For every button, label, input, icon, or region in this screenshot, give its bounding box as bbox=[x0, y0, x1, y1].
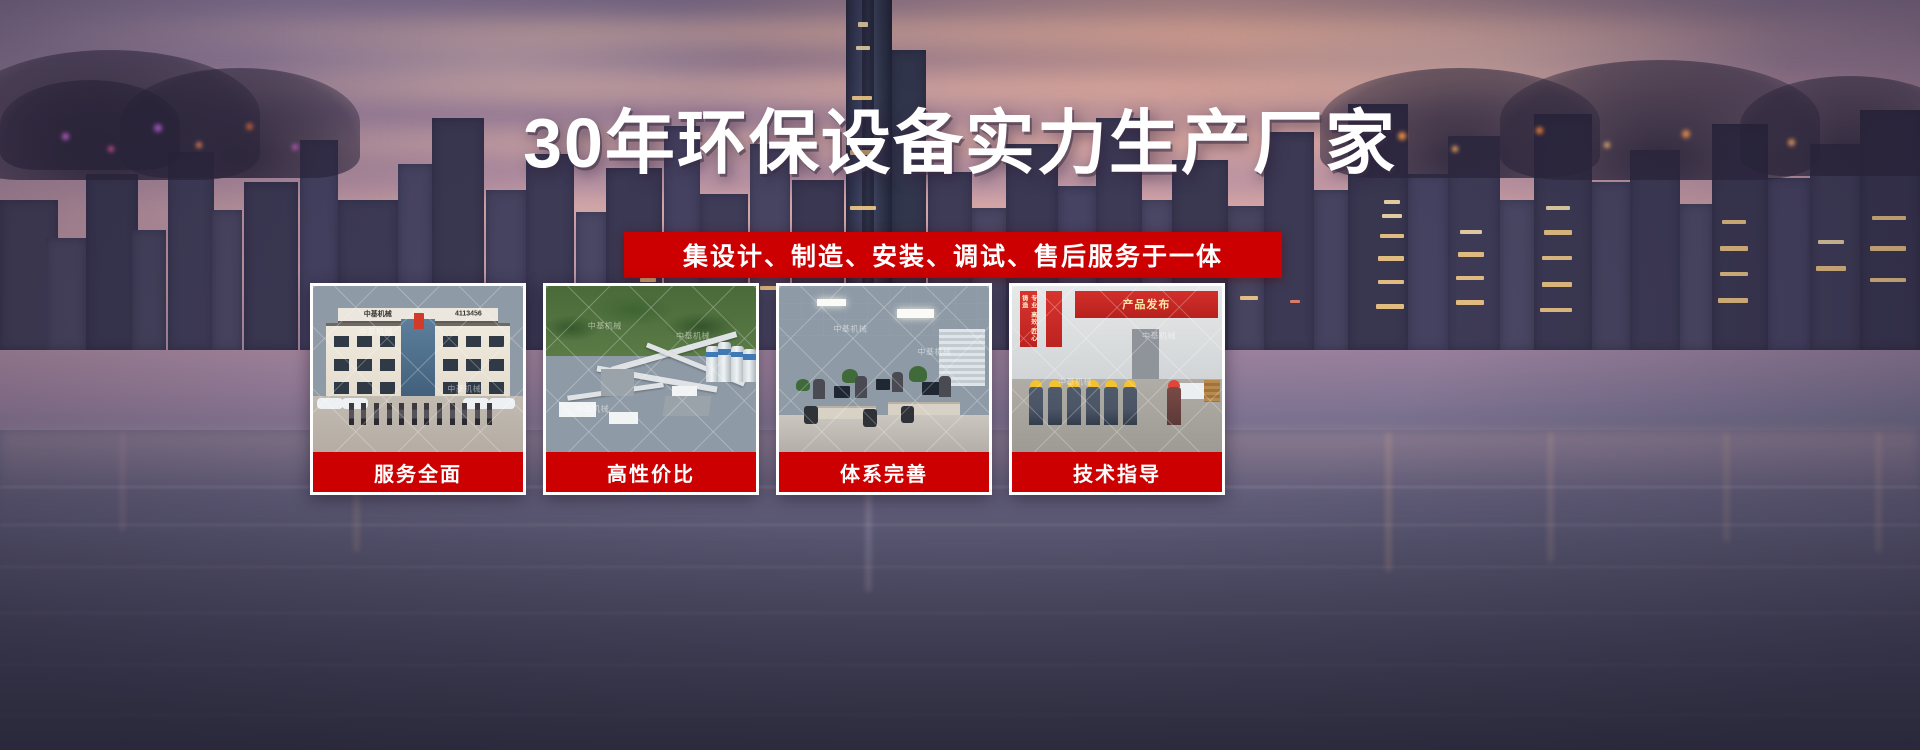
photo-watermark-mesh bbox=[313, 286, 523, 452]
feature-card-caption: 体系完善 bbox=[840, 458, 928, 487]
photo-watermark-text: 中基机械 bbox=[359, 327, 393, 338]
feature-card-caption-bar: 高性价比 bbox=[546, 452, 756, 492]
feature-card-caption: 高性价比 bbox=[607, 458, 695, 487]
photo-watermark-text: 中基机械 bbox=[575, 403, 609, 414]
feature-card[interactable]: 专业 高效 匠心铸造 产品发布 bbox=[1009, 283, 1225, 495]
photo-watermark-text: 中基机械 bbox=[833, 324, 867, 335]
office-workspace-photo: 中基机械 中基机械 bbox=[779, 286, 989, 452]
photo-watermark-mesh bbox=[546, 286, 756, 452]
photo-watermark-text: 中基机械 bbox=[917, 347, 951, 358]
feature-card-caption: 技术指导 bbox=[1073, 458, 1161, 487]
feature-card-caption-bar: 技术指导 bbox=[1012, 452, 1222, 492]
feature-card[interactable]: 中基机械 中基机械 体系完善 bbox=[776, 283, 992, 495]
hero-banner: 30年环保设备实力生产厂家 集设计、制造、安装、调试、售后服务于一体 中基机械 … bbox=[0, 0, 1920, 750]
feature-card-caption-bar: 体系完善 bbox=[779, 452, 989, 492]
banner-subtitle-text: 集设计、制造、安装、调试、售后服务于一体 bbox=[683, 237, 1223, 273]
photo-watermark-text: 中基机械 bbox=[588, 320, 622, 331]
photo-watermark-text: 中基机械 bbox=[676, 330, 710, 341]
banner-headline: 30年环保设备实力生产厂家 bbox=[0, 104, 1920, 182]
feature-card-caption: 服务全面 bbox=[374, 458, 462, 487]
feature-card-list: 中基机械 4113456 bbox=[310, 283, 1272, 495]
photo-watermark-mesh bbox=[1012, 286, 1222, 452]
photo-watermark-text: 中基机械 bbox=[1058, 377, 1092, 388]
aerial-factory-photo: 中基机械 中基机械 中基机械 bbox=[546, 286, 756, 452]
feature-card-caption-bar: 服务全面 bbox=[313, 452, 523, 492]
workshop-team-photo: 专业 高效 匠心铸造 产品发布 bbox=[1012, 286, 1222, 452]
banner-subtitle-bar: 集设计、制造、安装、调试、售后服务于一体 bbox=[624, 232, 1282, 278]
feature-card[interactable]: 中基机械 4113456 bbox=[310, 283, 526, 495]
photo-watermark-mesh bbox=[779, 286, 989, 452]
photo-watermark-text: 中基机械 bbox=[447, 383, 481, 394]
company-headquarters-photo: 中基机械 4113456 bbox=[313, 286, 523, 452]
photo-watermark-text: 中基机械 bbox=[1142, 330, 1176, 341]
feature-card[interactable]: 中基机械 中基机械 中基机械 高性价比 bbox=[543, 283, 759, 495]
